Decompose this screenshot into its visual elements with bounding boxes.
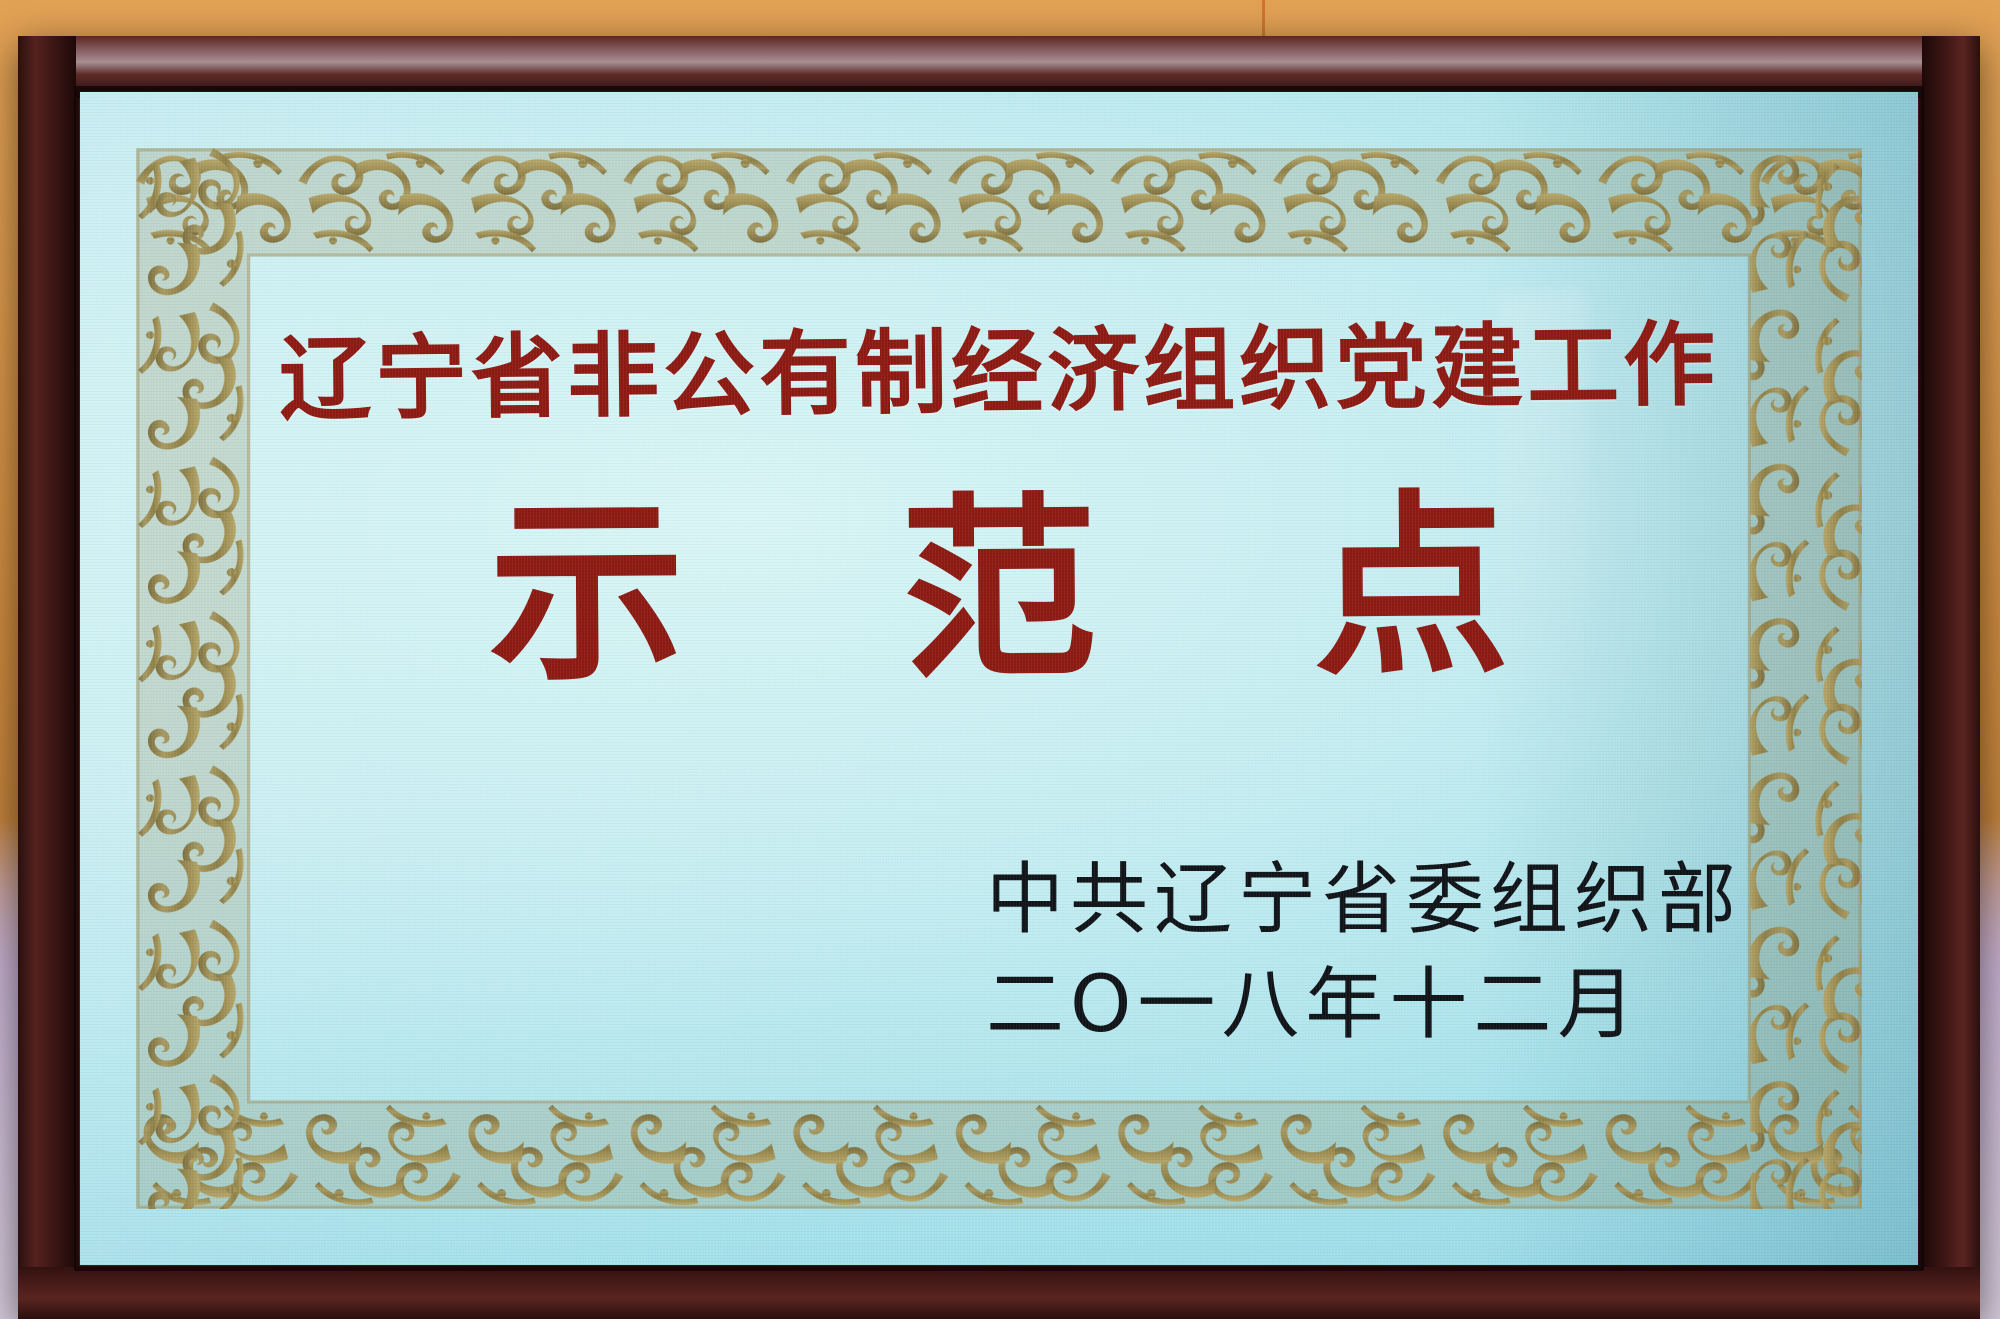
frame-left-bevel [18,36,76,1319]
plaque-face: 辽宁省非公有制经济组织党建工作 示 范 点 中共辽宁省委组织部 二O一八年十二月 [80,92,1918,1265]
issue-date: 二O一八年十二月 [986,958,1742,1053]
frame-bottom-bevel [18,1267,1980,1319]
plaque-title: 辽宁省非公有制经济组织党建工作 [229,290,1768,439]
plaque-content: 辽宁省非公有制经济组织党建工作 示 范 点 中共辽宁省委组织部 二O一八年十二月 [230,242,1768,1115]
wooden-picture-frame: 辽宁省非公有制经济组织党建工作 示 范 点 中共辽宁省委组织部 二O一八年十二月 [18,36,1980,1319]
plaque-headline: 示 范 点 [229,487,1768,694]
plaque-signature: 中共辽宁省委组织部 二O一八年十二月 [986,853,1742,1053]
issuing-organization: 中共辽宁省委组织部 [986,853,1742,948]
frame-right-bevel [1922,36,1980,1319]
